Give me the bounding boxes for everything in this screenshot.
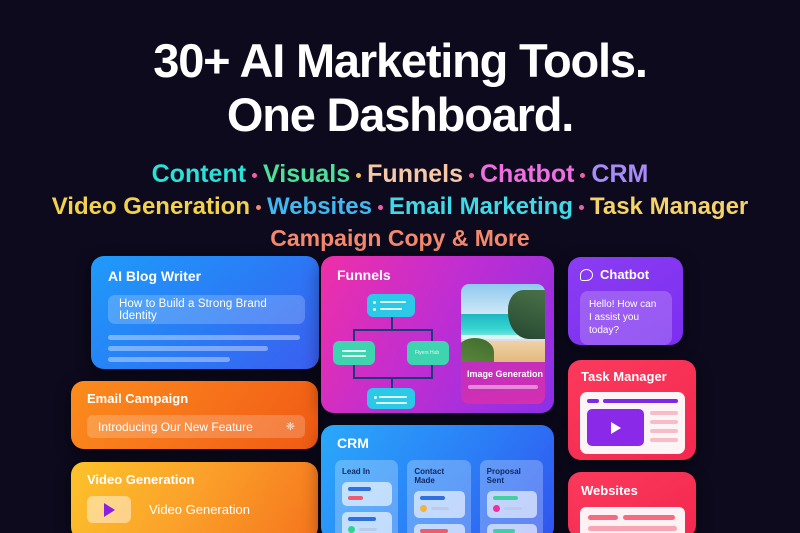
card-title-websites: Websites bbox=[581, 483, 696, 498]
blog-line bbox=[108, 346, 268, 351]
keyword-separator-dot bbox=[256, 205, 261, 210]
play-icon bbox=[104, 503, 115, 517]
flow-node-bar bbox=[380, 308, 402, 310]
keyword-visuals: Visuals bbox=[263, 160, 350, 188]
task-body bbox=[587, 409, 678, 446]
video-play-button[interactable] bbox=[87, 496, 131, 523]
websites-bar-full bbox=[588, 526, 677, 531]
card-crm[interactable]: CRM Lead InContact MadeProposal Sent bbox=[321, 425, 554, 533]
card-ai-blog-writer[interactable]: AI Blog Writer How to Build a Strong Bra… bbox=[91, 256, 319, 369]
keyword-separator-dot bbox=[356, 173, 361, 178]
card-title-blog-writer: AI Blog Writer bbox=[108, 268, 319, 284]
crm-card-bar bbox=[420, 529, 448, 533]
crm-card-meta bbox=[348, 526, 387, 533]
card-websites[interactable]: Websites bbox=[568, 472, 696, 533]
flow-node-dot bbox=[373, 301, 376, 304]
sparkle-icon: ❈ bbox=[286, 420, 295, 433]
keyword-task-manager: Task Manager bbox=[590, 193, 748, 220]
keyword-websites: Websites bbox=[267, 193, 372, 220]
poster-stage: 30+ AI Marketing Tools. One Dashboard. C… bbox=[0, 0, 800, 533]
chatbot-message-line-1: Hello! How can bbox=[589, 298, 664, 311]
flow-node-right[interactable]: Flyers Hub bbox=[407, 341, 449, 365]
photo-cliff bbox=[508, 290, 545, 338]
task-manager-panel bbox=[580, 392, 685, 454]
crm-card-meta bbox=[493, 505, 532, 512]
flow-node-dot bbox=[373, 308, 376, 311]
crm-card-bar bbox=[348, 487, 371, 491]
task-line bbox=[650, 429, 678, 433]
flow-node-bar bbox=[380, 301, 406, 303]
websites-bar bbox=[588, 515, 618, 520]
flow-node-dot bbox=[374, 396, 377, 399]
blog-line bbox=[108, 335, 300, 340]
crm-card-meta bbox=[420, 505, 459, 512]
keyword-separator-dot bbox=[580, 173, 585, 178]
play-icon bbox=[611, 422, 621, 434]
flow-connector bbox=[353, 377, 433, 379]
task-line bbox=[650, 438, 678, 442]
flow-node-top[interactable] bbox=[367, 294, 415, 317]
crm-meta-bar bbox=[504, 507, 522, 510]
flow-node-bar bbox=[379, 396, 407, 398]
image-generation-bar bbox=[468, 385, 538, 389]
headline-line-2: One Dashboard. bbox=[0, 88, 800, 142]
flow-connector bbox=[353, 364, 355, 378]
image-generation-label: Image Generation bbox=[467, 369, 545, 379]
crm-meta-bar bbox=[431, 507, 449, 510]
task-toolbar bbox=[587, 399, 678, 403]
card-title-task-manager: Task Manager bbox=[581, 369, 696, 384]
crm-column[interactable]: Lead In bbox=[335, 460, 398, 533]
beach-photo bbox=[461, 284, 545, 362]
chatbot-message: Hello! How can I assist you today? bbox=[580, 291, 672, 345]
crm-card[interactable] bbox=[414, 491, 464, 518]
keyword-separator-dot bbox=[252, 173, 257, 178]
card-title-funnels: Funnels bbox=[337, 267, 554, 283]
keyword-chatbot: Chatbot bbox=[480, 160, 574, 188]
card-email-campaign[interactable]: Email Campaign Introducing Our New Featu… bbox=[71, 381, 318, 449]
email-subject-text: Introducing Our New Feature bbox=[98, 420, 253, 434]
crm-kanban: Lead InContact MadeProposal Sent bbox=[335, 460, 543, 533]
crm-card-bar bbox=[420, 496, 444, 500]
card-video-generation[interactable]: Video Generation Video Generation bbox=[71, 462, 318, 533]
crm-card-bar bbox=[493, 496, 518, 500]
crm-card[interactable] bbox=[342, 482, 392, 506]
blog-line bbox=[108, 357, 230, 362]
photo-shrub bbox=[461, 338, 494, 362]
task-toolbar-pill bbox=[587, 399, 599, 403]
chat-bubble-icon bbox=[580, 269, 593, 281]
task-toolbar-bar bbox=[603, 399, 678, 403]
crm-status-dot bbox=[493, 505, 500, 512]
crm-column[interactable]: Contact Made bbox=[407, 460, 470, 533]
headline-line-1: 30+ AI Marketing Tools. bbox=[153, 34, 646, 87]
websites-row bbox=[588, 515, 677, 520]
chatbot-header: Chatbot bbox=[580, 267, 683, 282]
flow-node-bottom[interactable] bbox=[367, 388, 415, 409]
keyword-video-generation: Video Generation bbox=[52, 193, 250, 220]
crm-column[interactable]: Proposal Sent bbox=[480, 460, 543, 533]
keyword-separator-dot bbox=[378, 205, 383, 210]
keyword-separator-dot bbox=[579, 205, 584, 210]
email-subject-input[interactable]: Introducing Our New Feature ❈ bbox=[87, 415, 305, 438]
image-generation-panel[interactable]: Image Generation bbox=[461, 284, 545, 404]
page-title: 30+ AI Marketing Tools. One Dashboard. bbox=[0, 34, 800, 142]
card-chatbot[interactable]: Chatbot Hello! How can I assist you toda… bbox=[568, 257, 683, 345]
crm-card[interactable] bbox=[487, 491, 537, 518]
crm-status-dot bbox=[420, 505, 427, 512]
keyword-email-marketing: Email Marketing bbox=[389, 193, 573, 220]
card-title-crm: CRM bbox=[337, 435, 554, 451]
websites-panel bbox=[580, 507, 685, 533]
keyword-content: Content bbox=[152, 160, 246, 188]
crm-meta-bar bbox=[359, 528, 377, 531]
task-line bbox=[650, 420, 678, 424]
card-title-email-campaign: Email Campaign bbox=[87, 391, 318, 406]
crm-column-title: Contact Made bbox=[414, 467, 464, 485]
websites-bar bbox=[623, 515, 675, 520]
crm-card-bar bbox=[348, 517, 376, 521]
keyword-line-1: ContentVisualsFunnelsChatbotCRM bbox=[0, 159, 800, 189]
crm-card-bar-secondary bbox=[348, 496, 363, 500]
video-row: Video Generation bbox=[87, 496, 318, 523]
flow-node-bar bbox=[376, 402, 407, 404]
chatbot-message-line-2: I assist you today? bbox=[589, 311, 664, 337]
keyword-funnels: Funnels bbox=[367, 160, 463, 188]
crm-card[interactable] bbox=[342, 512, 392, 533]
flow-node-bar bbox=[342, 350, 366, 352]
keyword-line-2: Video GenerationWebsitesEmail MarketingT… bbox=[0, 192, 800, 222]
flow-connector bbox=[353, 329, 433, 331]
keyword-separator-dot bbox=[469, 173, 474, 178]
funnel-flowchart: Flyers Hub bbox=[333, 292, 451, 404]
crm-card[interactable] bbox=[414, 524, 464, 533]
task-video-thumb[interactable] bbox=[587, 409, 644, 446]
flow-node-left[interactable] bbox=[333, 341, 375, 365]
video-generation-label: Video Generation bbox=[149, 502, 250, 517]
keyword-crm: CRM bbox=[591, 160, 648, 188]
flow-connector bbox=[391, 316, 393, 330]
task-line bbox=[650, 411, 678, 415]
card-title-chatbot: Chatbot bbox=[600, 267, 649, 282]
card-title-video-generation: Video Generation bbox=[87, 472, 318, 487]
crm-card-bar bbox=[493, 529, 516, 533]
crm-card[interactable] bbox=[487, 524, 537, 533]
crm-column-title: Proposal Sent bbox=[487, 467, 537, 485]
flow-connector bbox=[431, 364, 433, 378]
crm-column-title: Lead In bbox=[342, 467, 392, 476]
flow-node-label: Flyers Hub bbox=[415, 350, 439, 356]
card-funnels[interactable]: Funnels Fl bbox=[321, 256, 554, 413]
task-line-list bbox=[650, 409, 678, 446]
card-task-manager[interactable]: Task Manager bbox=[568, 360, 696, 460]
keyword-line-3: Campaign Copy & More bbox=[0, 224, 800, 252]
blog-title-input[interactable]: How to Build a Strong Brand Identity bbox=[108, 295, 305, 324]
flow-node-bar bbox=[342, 355, 366, 357]
keyword-campaign-copy-more: Campaign Copy & More bbox=[270, 225, 529, 251]
blog-placeholder-lines bbox=[108, 335, 319, 362]
crm-status-dot bbox=[348, 526, 355, 533]
